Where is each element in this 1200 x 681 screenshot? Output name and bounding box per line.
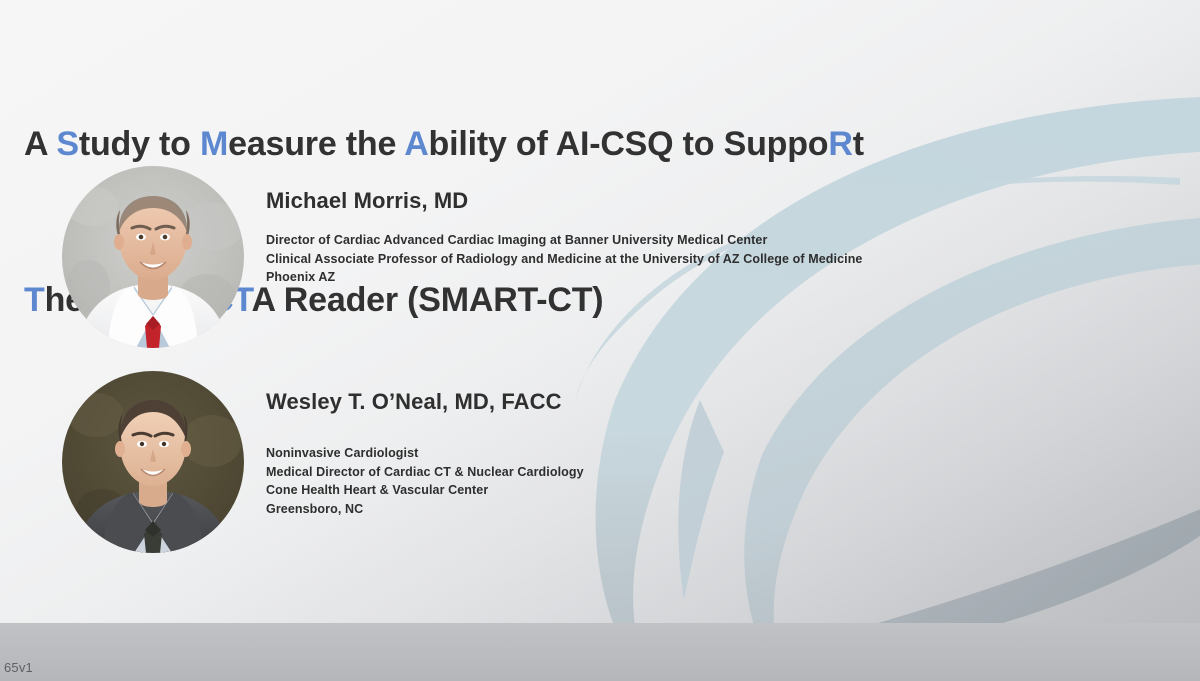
speaker-text-0: Michael Morris, MD Director of Cardiac A… bbox=[266, 166, 863, 287]
title-text-segment: t bbox=[853, 125, 864, 163]
title-text-segment: A bbox=[24, 125, 56, 163]
title-text-segment: bility of AI-CSQ to Suppo bbox=[429, 125, 829, 163]
affiliation-line: Phoenix AZ bbox=[266, 268, 863, 287]
title-accent-letter: T bbox=[24, 281, 45, 319]
slide-version-code: 65v1 bbox=[4, 660, 33, 675]
presentation-slide: A Study to Measure the Ability of AI-CSQ… bbox=[0, 0, 1200, 681]
title-accent-letter: M bbox=[200, 125, 228, 163]
speaker-block-1: Wesley T. O’Neal, MD, FACC Noninvasive C… bbox=[62, 371, 584, 553]
speaker-text-1: Wesley T. O’Neal, MD, FACC Noninvasive C… bbox=[266, 371, 584, 518]
title-accent-letter: S bbox=[56, 125, 78, 163]
headshot-avatar-0 bbox=[62, 166, 244, 348]
affiliation-line: Medical Director of Cardiac CT & Nuclear… bbox=[266, 463, 584, 482]
title-text-segment: tudy to bbox=[79, 125, 200, 163]
speaker-block-0: Michael Morris, MD Director of Cardiac A… bbox=[62, 166, 863, 348]
speaker-affiliations-0: Director of Cardiac Advanced Cardiac Ima… bbox=[266, 231, 863, 287]
affiliation-line: Greensboro, NC bbox=[266, 500, 584, 519]
affiliation-line: Director of Cardiac Advanced Cardiac Ima… bbox=[266, 231, 863, 250]
affiliation-line: Cone Health Heart & Vascular Center bbox=[266, 481, 584, 500]
speaker-name-0: Michael Morris, MD bbox=[266, 188, 863, 214]
bottom-bar bbox=[0, 623, 1200, 681]
speaker-name-1: Wesley T. O’Neal, MD, FACC bbox=[266, 389, 584, 415]
title-accent-letter: R bbox=[828, 125, 852, 163]
headshot-wesley-oneal-icon bbox=[62, 371, 244, 553]
speaker-affiliations-1: Noninvasive Cardiologist Medical Directo… bbox=[266, 444, 584, 518]
title-text-segment: easure the bbox=[228, 125, 404, 163]
title-accent-letter: A bbox=[404, 125, 428, 163]
affiliation-line: Clinical Associate Professor of Radiolog… bbox=[266, 250, 863, 269]
headshot-michael-morris-icon bbox=[62, 166, 244, 348]
headshot-avatar-1 bbox=[62, 371, 244, 553]
title-line-1: A Study to Measure the Ability of AI-CSQ… bbox=[24, 118, 1114, 170]
affiliation-line: Noninvasive Cardiologist bbox=[266, 444, 584, 463]
